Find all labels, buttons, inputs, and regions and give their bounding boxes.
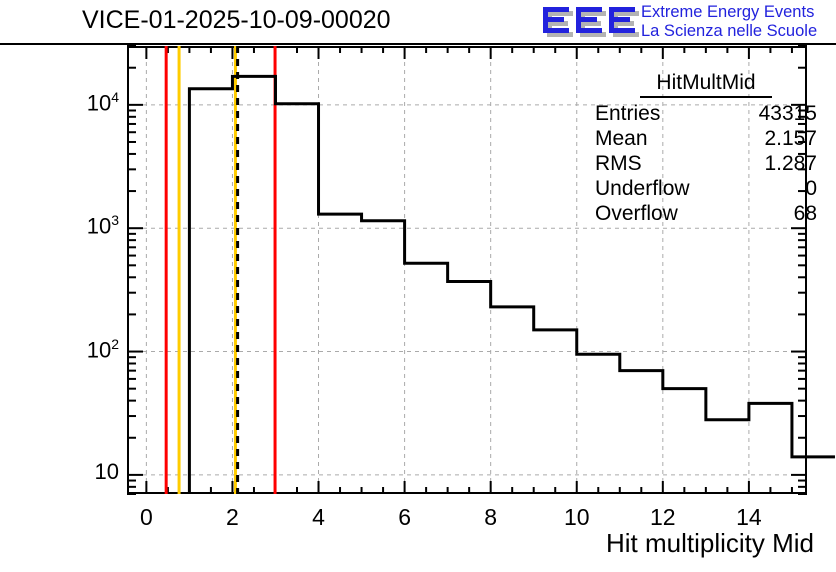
stats-row-value: 43315 xyxy=(759,101,817,126)
stats-row-value: 2.157 xyxy=(764,126,817,151)
histogram-canvas: VICE-01-2025-10-09-00020 xyxy=(0,0,836,572)
stats-row-key: RMS xyxy=(595,151,642,176)
stats-row: Entries43315 xyxy=(592,101,820,126)
x-tick-label: 8 xyxy=(461,504,521,531)
x-tick-label: 6 xyxy=(375,504,435,531)
x-tick-label: 14 xyxy=(719,504,779,531)
stats-box: HitMultMid Entries43315Mean2.157RMS1.287… xyxy=(592,70,820,226)
stats-row-value: 0 xyxy=(805,176,817,201)
x-axis-title: Hit multiplicity Mid xyxy=(606,528,814,559)
y-tick-label: 103 xyxy=(29,212,119,239)
x-tick-label: 4 xyxy=(289,504,349,531)
stats-row-value: 1.287 xyxy=(764,151,817,176)
y-tick-label: 102 xyxy=(29,336,119,363)
stats-box-rows: Entries43315Mean2.157RMS1.287Underflow0O… xyxy=(592,99,820,226)
stats-row: Mean2.157 xyxy=(592,126,820,151)
stats-row-value: 68 xyxy=(794,201,817,226)
x-tick-label: 2 xyxy=(202,504,262,531)
x-tick-label: 12 xyxy=(633,504,693,531)
stats-row: Overflow68 xyxy=(592,201,820,226)
stats-box-title-text: HitMultMid xyxy=(640,70,771,98)
y-tick-label: 10 xyxy=(29,459,119,485)
stats-row-key: Underflow xyxy=(595,176,690,201)
stats-row-key: Overflow xyxy=(595,201,678,226)
stats-box-title: HitMultMid xyxy=(592,70,820,99)
stats-row: RMS1.287 xyxy=(592,151,820,176)
stats-row: Underflow0 xyxy=(592,176,820,201)
x-tick-label: 10 xyxy=(547,504,607,531)
marker-line-layer xyxy=(166,46,275,494)
stats-row-key: Entries xyxy=(595,101,660,126)
stats-row-key: Mean xyxy=(595,126,648,151)
y-tick-label: 104 xyxy=(29,89,119,116)
x-tick-label: 0 xyxy=(116,504,176,531)
